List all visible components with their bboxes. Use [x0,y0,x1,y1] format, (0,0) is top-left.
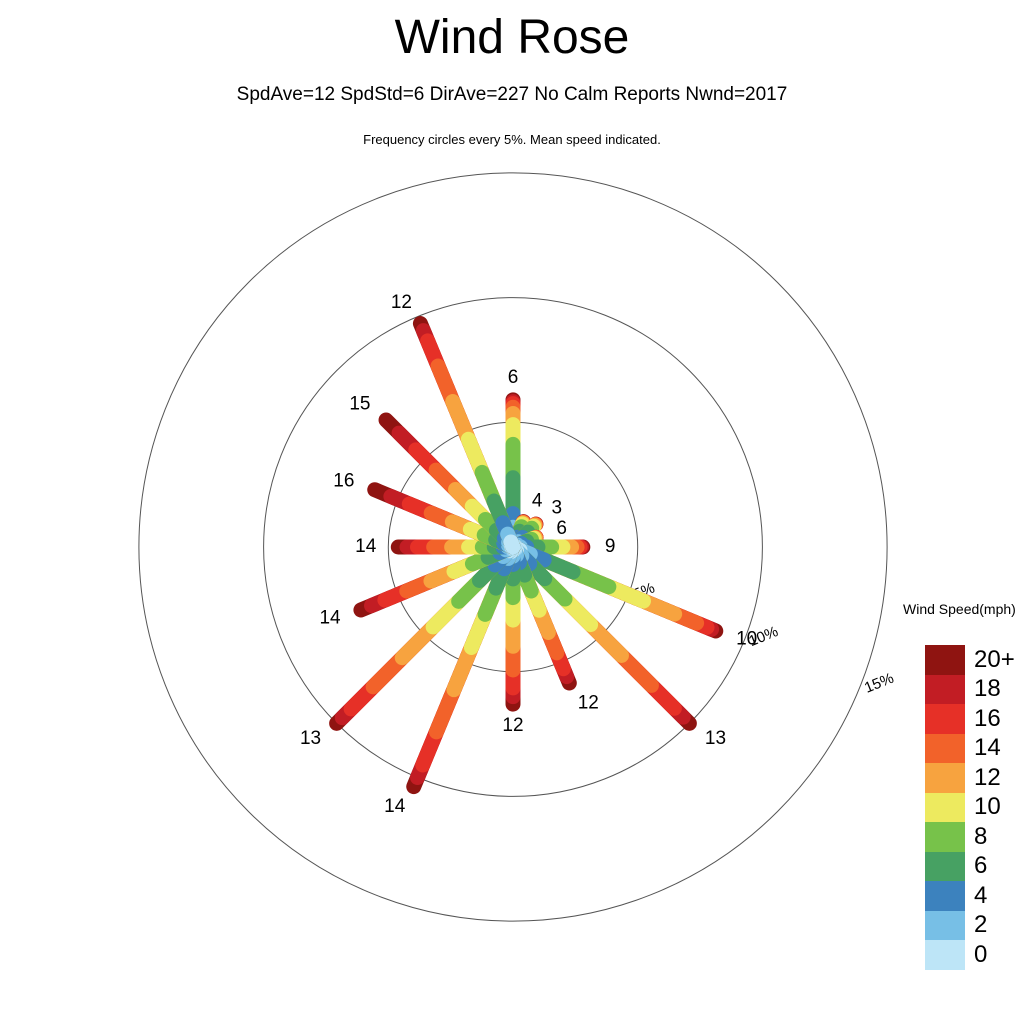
legend-row: 0 [925,940,965,970]
petal-mean-speed-label: 4 [532,490,543,511]
legend-color-swatch [925,822,965,852]
petal-mean-speed-label: 6 [556,518,567,539]
petal-mean-speed-label: 12 [502,715,523,736]
legend-row: 12 [925,763,965,793]
petal-mean-speed-label: 14 [355,536,377,557]
legend-row: 16 [925,704,965,734]
petal-mean-speed-label: 14 [319,607,341,628]
petal-mean-speed-label: 6 [508,367,519,388]
legend-color-swatch [925,793,965,823]
legend-color-swatch [925,734,965,764]
wind-rose-plot: 5%10%15%643691013121214131414161512 [0,0,1024,1024]
legend-color-swatch [925,763,965,793]
legend-label: 2 [974,913,987,937]
wind-petal [337,547,513,723]
petal-mean-speed-label: 13 [300,728,321,749]
legend-row: 8 [925,822,965,852]
legend-label: 8 [974,825,987,849]
petal-speed-band [511,542,513,547]
legend-row: 14 [925,734,965,764]
legend-color-swatch [925,911,965,941]
legend-label: 16 [974,707,1001,731]
petal-mean-speed-label: 12 [391,292,412,313]
legend-row: 20+ [925,645,965,675]
legend-row: 6 [925,852,965,882]
legend-row: 18 [925,675,965,705]
legend-label: 20+ [974,648,1015,672]
legend-title: Wind Speed(mph) [903,601,1016,617]
legend-label: 18 [974,677,1001,701]
legend-color-swatch [925,881,965,911]
legend-label: 4 [974,884,987,908]
legend-row: 2 [925,911,965,941]
wind-rose-page: Wind Rose SpdAve=12 SpdStd=6 DirAve=227 … [0,0,1024,1024]
wind-petal [513,547,689,723]
legend-row: 10 [925,793,965,823]
legend-label: 0 [974,943,987,967]
petal-mean-speed-label: 13 [705,728,726,749]
petal-mean-speed-label: 15 [349,393,370,414]
legend-color-swatch [925,704,965,734]
legend-label: 14 [974,736,1001,760]
wind-speed-legend: 20+181614121086420 [925,645,965,970]
legend-label: 12 [974,766,1001,790]
legend-label: 6 [974,854,987,878]
petal-mean-speed-label: 10 [736,628,757,649]
legend-label: 10 [974,795,1001,819]
legend-color-swatch [925,940,965,970]
ring-label: 15% [862,670,896,697]
petal-mean-speed-label: 16 [333,470,354,491]
legend-color-swatch [925,645,965,675]
legend-color-swatch [925,675,965,705]
legend-row: 4 [925,881,965,911]
petal-mean-speed-label: 14 [384,796,406,817]
petal-mean-speed-label: 3 [551,498,562,519]
legend-color-swatch [925,852,965,882]
petal-mean-speed-label: 9 [605,536,616,557]
petal-mean-speed-label: 12 [578,692,599,713]
